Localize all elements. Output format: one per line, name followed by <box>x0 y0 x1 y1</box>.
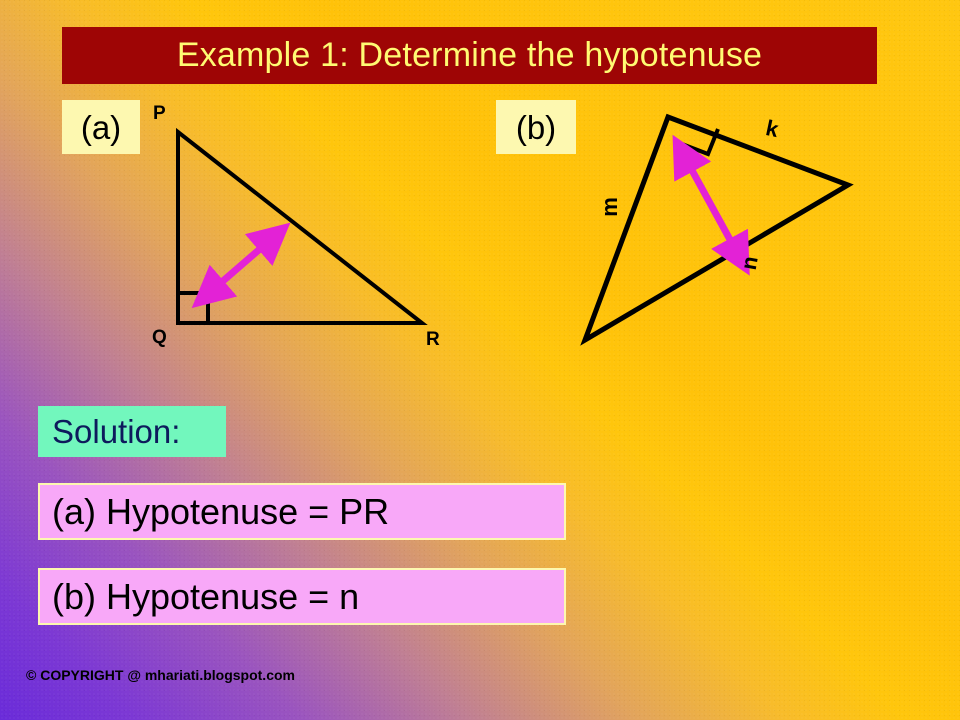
part-label-a-text: (a) <box>81 111 121 144</box>
hypotenuse-arrow-b <box>688 163 745 267</box>
triangle-mkn-outline <box>585 117 848 340</box>
right-angle-marker-q <box>178 293 208 323</box>
slide-canvas: Example 1: Determine the hypotenuse (a) … <box>0 0 960 720</box>
side-label-m: m <box>599 197 621 217</box>
solution-heading-box: Solution: <box>38 406 226 457</box>
title-banner: Example 1: Determine the hypotenuse <box>62 27 877 84</box>
page-title: Example 1: Determine the hypotenuse <box>177 36 762 75</box>
answer-text-a: (a) Hypotenuse = PR <box>40 494 389 530</box>
vertex-label-p: P <box>153 104 166 123</box>
vertex-label-q: Q <box>152 328 167 347</box>
answer-text-b: (b) Hypotenuse = n <box>40 579 359 615</box>
triangle-pqr-outline <box>178 132 422 323</box>
vertex-label-r: R <box>426 330 440 349</box>
side-label-n: n <box>738 254 762 271</box>
answer-row-b: (b) Hypotenuse = n <box>38 568 566 625</box>
part-label-b: (b) <box>496 100 576 154</box>
hypotenuse-arrow-b-line <box>688 163 745 267</box>
side-label-k: k <box>764 117 781 141</box>
solution-heading-text: Solution: <box>38 415 180 448</box>
copyright-notice: © COPYRIGHT @ mhariati.blogspot.com <box>26 668 295 682</box>
part-label-a: (a) <box>62 100 140 154</box>
right-angle-marker-mkn <box>682 129 718 154</box>
triangle-mkn <box>585 117 848 340</box>
triangle-pqr <box>178 132 422 323</box>
hypotenuse-arrow-a-line <box>216 229 283 287</box>
hypotenuse-arrow-a <box>216 229 283 287</box>
part-label-b-text: (b) <box>516 111 556 144</box>
answer-row-a: (a) Hypotenuse = PR <box>38 483 566 540</box>
